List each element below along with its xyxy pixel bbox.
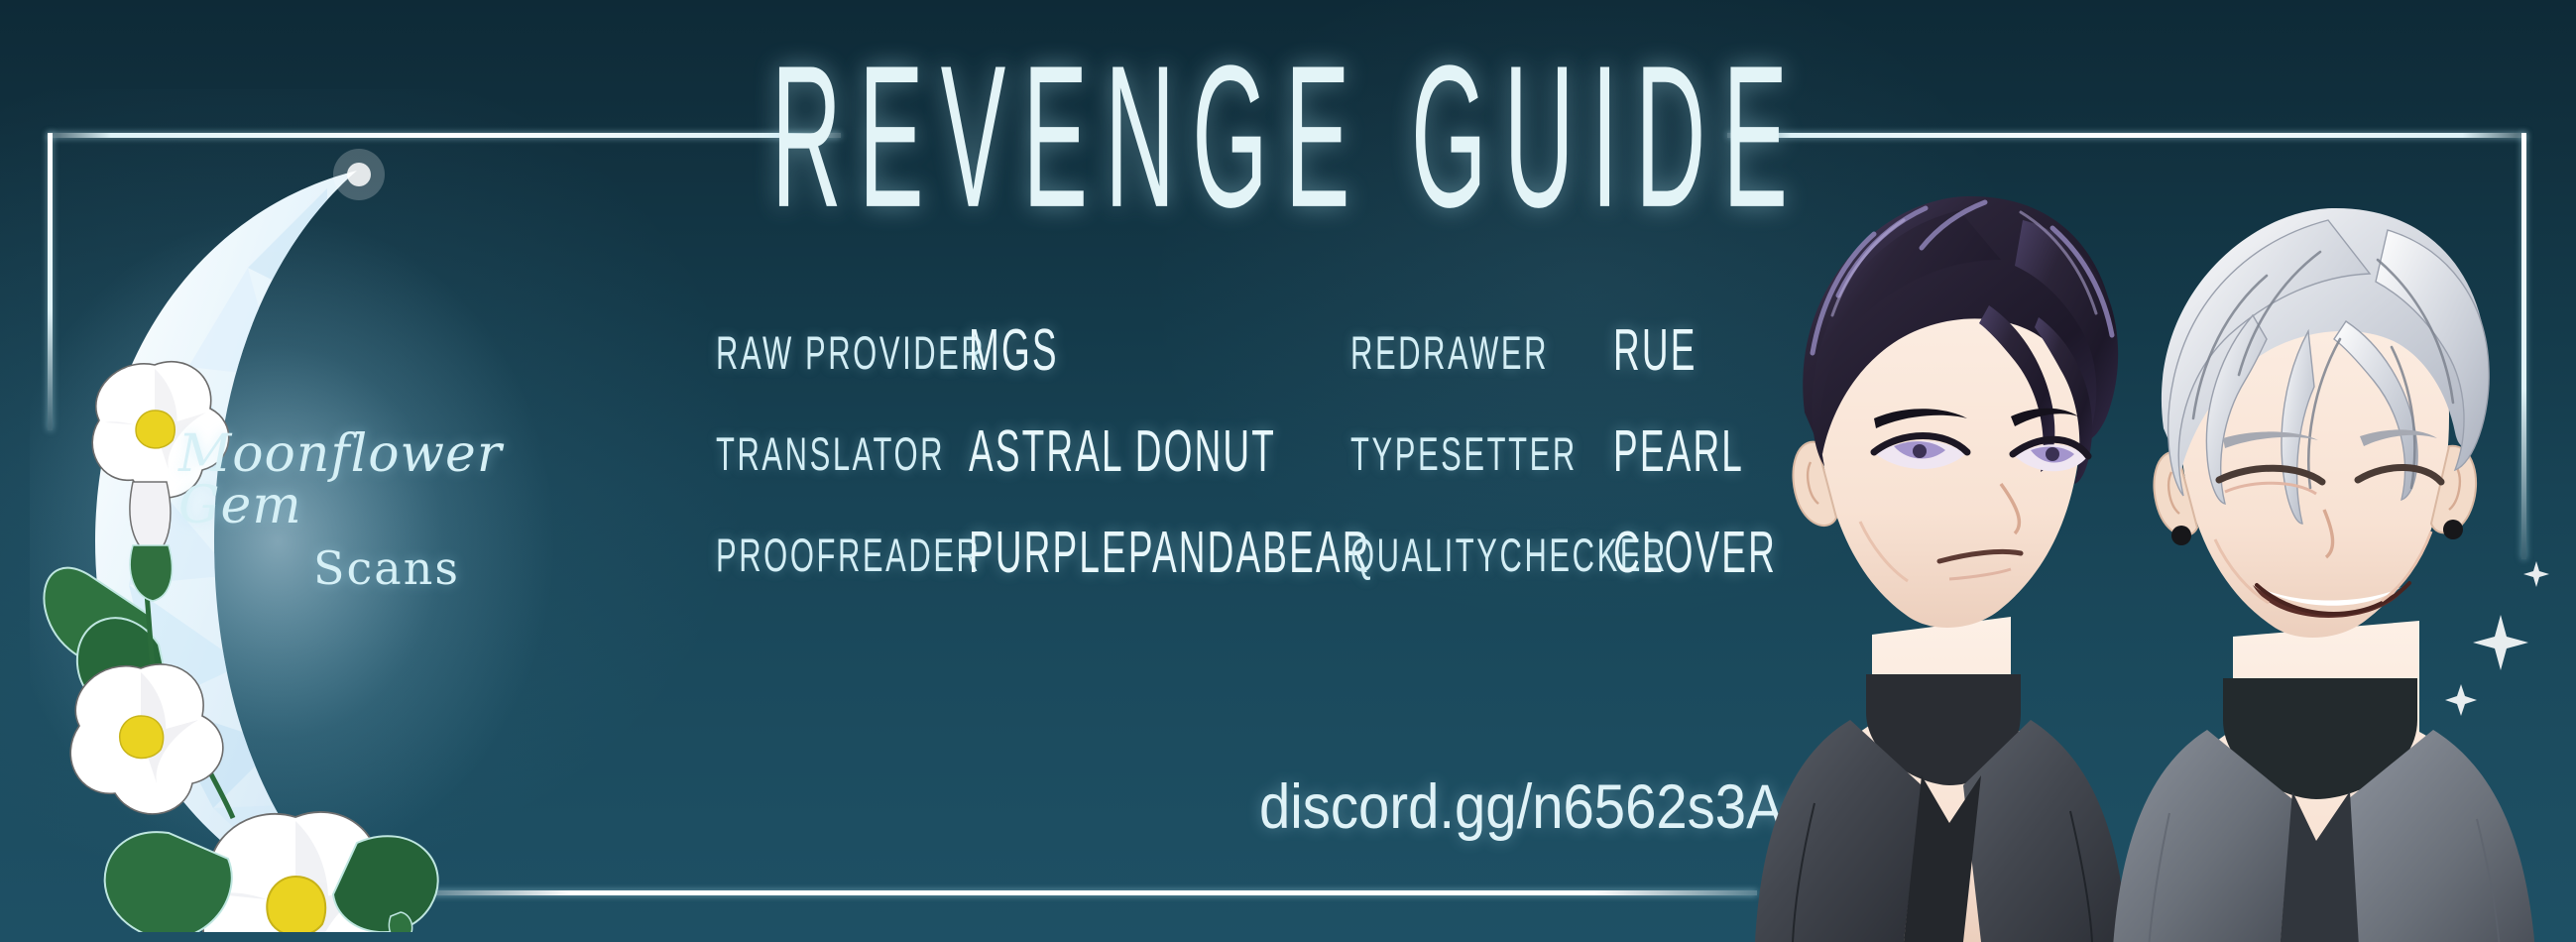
credit-label-translator: TRANSLATOR bbox=[716, 426, 933, 481]
credit-label-redrawer: REDRAWER bbox=[1350, 325, 1577, 380]
credit-value-raw-provider: MGS bbox=[969, 318, 1297, 386]
credits-banner: REVENGE GUIDE bbox=[0, 0, 2576, 942]
character-dark-haired bbox=[1755, 196, 2128, 942]
frame-top-left-rule bbox=[48, 133, 841, 138]
credits-table: RAW PROVIDER MGS REDRAWER RUE TRANSLATOR… bbox=[716, 327, 1826, 587]
character-artwork bbox=[1755, 169, 2576, 942]
sparkle-icon bbox=[2445, 561, 2549, 716]
table-row: PROOFREADER PURPLEPANDABEAR QUALITYCHECK… bbox=[716, 530, 1826, 587]
table-row: TRANSLATOR ASTRAL DONUT TYPESETTER PEARL bbox=[716, 428, 1826, 486]
credit-label-proofreader: PROOFREADER bbox=[716, 528, 933, 582]
credit-value-proofreader: PURPLEPANDABEAR bbox=[969, 521, 1297, 588]
earring-right bbox=[2443, 520, 2463, 539]
credit-value-qualitychecker: CLOVER bbox=[1613, 521, 1777, 588]
credit-label-typesetter: TYPESETTER bbox=[1350, 426, 1577, 481]
credit-value-translator: ASTRAL DONUT bbox=[969, 419, 1297, 487]
credit-value-typesetter: PEARL bbox=[1613, 419, 1744, 487]
character-silver-haired bbox=[2112, 208, 2536, 942]
table-row: RAW PROVIDER MGS REDRAWER RUE bbox=[716, 327, 1826, 385]
credit-label-qualitychecker: QUALITYCHECKER bbox=[1350, 528, 1577, 582]
earring-left bbox=[2171, 526, 2191, 545]
scanlation-logo: Moonflower Gem Scans bbox=[30, 149, 684, 932]
frame-top-right-rule bbox=[1727, 133, 2526, 138]
crescent-moon-icon bbox=[30, 149, 684, 932]
credit-label-raw-provider: RAW PROVIDER bbox=[716, 325, 933, 380]
credit-value-redrawer: RUE bbox=[1613, 318, 1698, 386]
